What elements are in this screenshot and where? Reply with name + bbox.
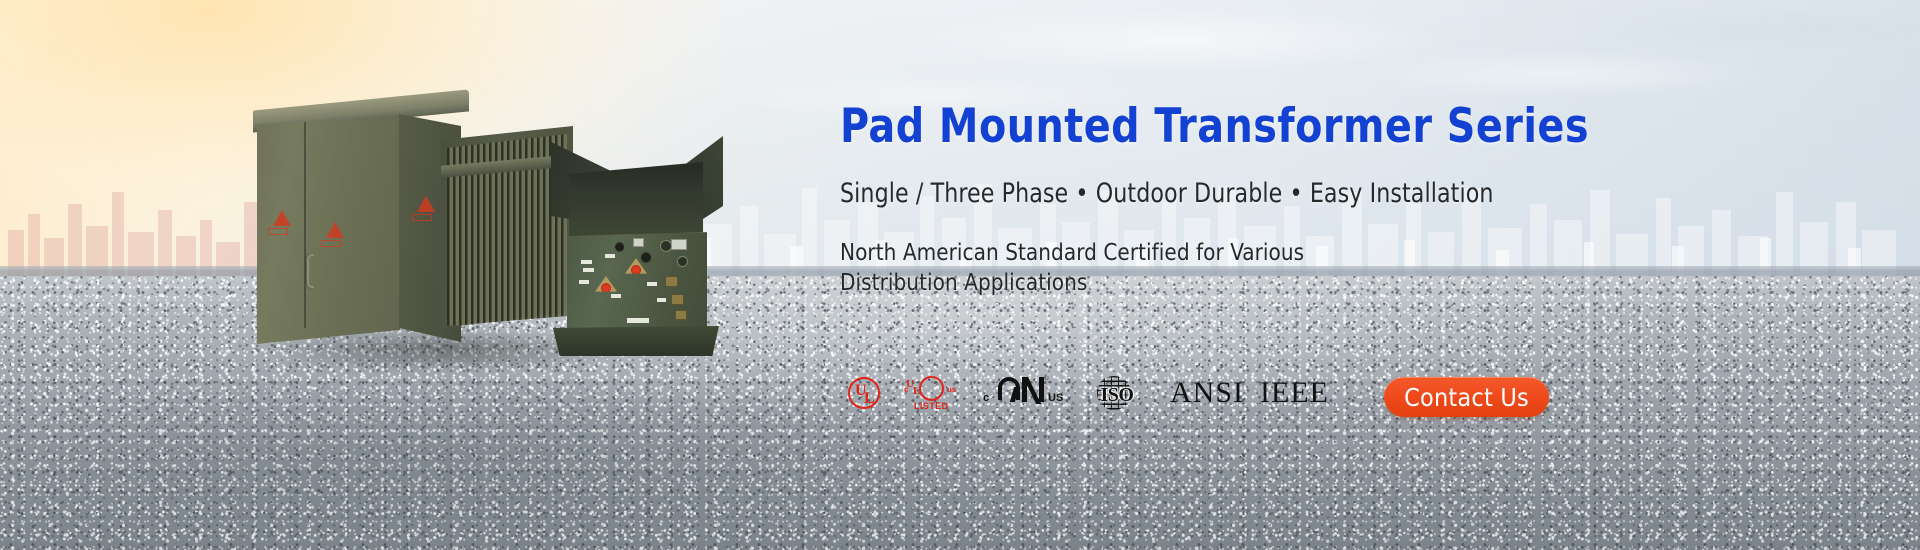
ul-circle-icon: U L xyxy=(848,377,880,409)
panel-label xyxy=(583,268,594,272)
ul-mark: U L xyxy=(848,377,902,409)
terminal-lug xyxy=(665,276,678,287)
terminal-lug xyxy=(671,294,684,305)
nameplate xyxy=(671,239,687,250)
ul-rec-suffix-us: US xyxy=(1048,392,1063,404)
panel-label xyxy=(605,254,615,258)
iso-globe-icon: ISO xyxy=(1088,375,1148,411)
selector-knob xyxy=(615,242,624,251)
ansi-wordmark: ANSI xyxy=(1170,378,1244,408)
contact-us-button[interactable]: Contact Us xyxy=(1384,377,1549,417)
ul-listed-suffix-us: us xyxy=(947,385,956,394)
ul-listed-circle xyxy=(919,376,944,401)
iso-label: ISO xyxy=(1088,384,1146,407)
warning-label xyxy=(321,240,341,247)
panel-label xyxy=(611,294,621,298)
ul-letter-l: L xyxy=(864,391,875,407)
hv-bushing xyxy=(595,276,617,296)
open-compartment xyxy=(545,128,723,350)
panel-label xyxy=(581,260,592,264)
banner-text-block: Pad Mounted Transformer Series Single / … xyxy=(840,102,1580,297)
transformer-cabinet xyxy=(257,100,453,340)
compartment-base xyxy=(553,326,719,356)
hero-banner: Pad Mounted Transformer Series Single / … xyxy=(0,0,1920,550)
cabinet-front-doors xyxy=(257,118,400,344)
switch-box xyxy=(633,238,644,247)
ieee-wordmark: IEEE xyxy=(1260,378,1329,408)
terminal-lug xyxy=(675,310,687,320)
banner-subheadline: Single / Three Phase • Outdoor Durable •… xyxy=(840,178,1528,210)
ul-rec-prefix-c: c xyxy=(983,392,989,404)
panel-label xyxy=(647,282,657,286)
ul-listed-letter-l: L xyxy=(913,386,920,397)
banner-headline: Pad Mounted Transformer Series xyxy=(840,102,1536,152)
cabinet-door-seam xyxy=(304,122,306,328)
temperature-gauge xyxy=(677,256,688,267)
ul-rec-trademark: ® xyxy=(1044,375,1049,382)
warning-label xyxy=(412,214,432,221)
control-panel xyxy=(567,232,707,338)
warning-triangle-icon xyxy=(326,222,344,238)
certification-logo-row: U L c U L us LISTED c ® xyxy=(848,375,1329,411)
ul-rec-glyph-n-right xyxy=(1039,377,1044,402)
warning-label xyxy=(268,228,288,235)
ul-listed-mark: c U L us LISTED xyxy=(902,376,982,410)
banner-description: North American Standard Certified for Va… xyxy=(840,237,1410,297)
warning-triangle-icon xyxy=(273,210,291,226)
ul-recognized-mark: c ® US xyxy=(982,375,1088,411)
panel-label xyxy=(657,298,666,302)
handle-bar xyxy=(627,318,649,323)
cabinet-handle xyxy=(307,254,314,288)
panel-label xyxy=(579,280,589,284)
c-ru-us-icon: c ® US xyxy=(982,375,1070,411)
c-ul-us-listed-icon: c U L us LISTED xyxy=(902,376,964,410)
selector-knob xyxy=(641,252,651,262)
warning-triangle-icon xyxy=(417,196,435,212)
ul-listed-caption: LISTED xyxy=(914,401,948,411)
pad-mounted-transformer-image xyxy=(245,80,715,380)
iso-mark: ISO xyxy=(1088,375,1170,411)
